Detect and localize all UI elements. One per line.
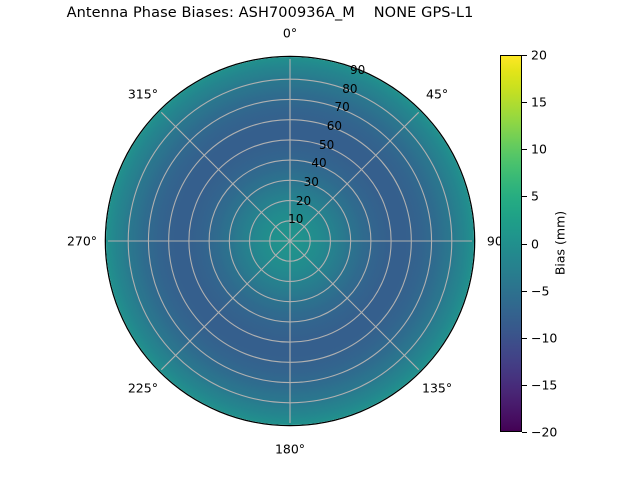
- colorbar-tick-label: −10: [531, 330, 557, 345]
- colorbar-tick-mark: [522, 432, 527, 433]
- colorbar-tick-label: 20: [531, 48, 547, 63]
- colorbar-tick-label: −15: [531, 377, 557, 392]
- radial-tick-10: 10: [288, 212, 303, 226]
- radial-tick-50: 50: [319, 138, 334, 152]
- radial-tick-20: 20: [296, 194, 311, 208]
- angular-tick-315: 315°: [128, 86, 158, 101]
- colorbar-tick-mark: [522, 102, 527, 103]
- colorbar-tick-mark: [522, 149, 527, 150]
- figure-canvas: Antenna Phase Biases: ASH700936A_M NONE …: [0, 0, 640, 480]
- radial-tick-80: 80: [342, 82, 357, 96]
- colorbar-tick-mark: [522, 244, 527, 245]
- angular-tick-180: 180°: [275, 442, 305, 457]
- angular-tick-45: 45°: [426, 86, 448, 101]
- colorbar-tick-label: 0: [531, 236, 539, 251]
- radial-tick-30: 30: [304, 175, 319, 189]
- angular-tick-135: 135°: [422, 381, 452, 396]
- colorbar-tick-mark: [522, 196, 527, 197]
- page-title: Antenna Phase Biases: ASH700936A_M NONE …: [0, 5, 540, 21]
- colorbar-tick-label: −5: [531, 283, 549, 298]
- angular-tick-0: 0°: [283, 26, 297, 41]
- radial-tick-70: 70: [335, 100, 350, 114]
- colorbar-tick-label: 10: [531, 142, 547, 157]
- colorbar-tick-mark: [522, 338, 527, 339]
- radial-tick-90: 90: [350, 63, 365, 77]
- radial-tick-60: 60: [327, 119, 342, 133]
- radial-tick-40: 40: [311, 156, 326, 170]
- polar-heatmap-fill: [106, 57, 474, 425]
- colorbar-tick-label: −20: [531, 425, 557, 440]
- angular-tick-270: 270°: [67, 234, 97, 249]
- colorbar-tick-label: 5: [531, 189, 539, 204]
- colorbar-tick-mark: [522, 385, 527, 386]
- angular-tick-225: 225°: [128, 381, 158, 396]
- polar-data-disc: [106, 57, 474, 425]
- colorbar-title: Bias (mm): [553, 211, 568, 275]
- colorbar-tick-label: 15: [531, 95, 547, 110]
- colorbar[interactable]: [500, 55, 522, 432]
- colorbar-tick-mark: [522, 291, 527, 292]
- colorbar-tick-mark: [522, 55, 527, 56]
- polar-plot[interactable]: [106, 57, 474, 425]
- colorbar-gradient: [500, 55, 522, 432]
